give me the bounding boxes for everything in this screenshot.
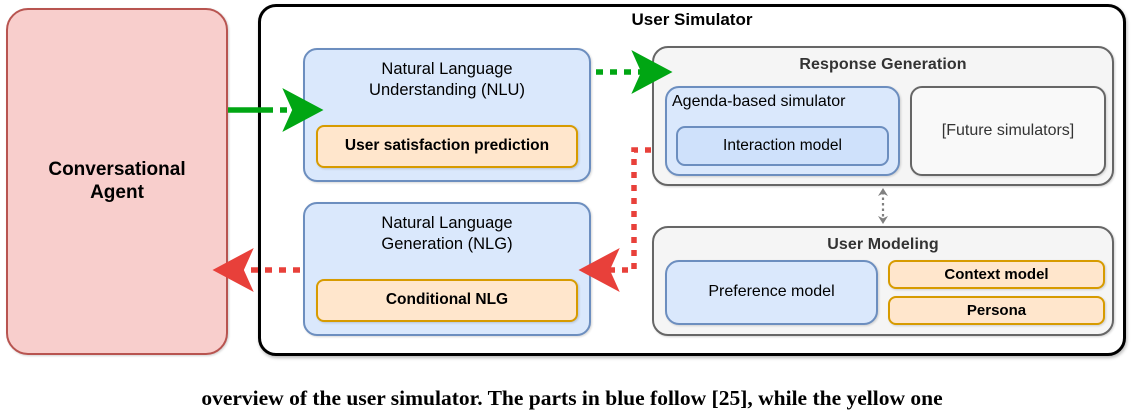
figure-caption: overview of the user simulator. The part… bbox=[0, 386, 1144, 411]
user-satisfaction-prediction-label: User satisfaction prediction bbox=[345, 137, 549, 155]
context-model-label: Context model bbox=[944, 266, 1048, 284]
future-simulators-label: [Future simulators] bbox=[942, 122, 1074, 141]
agenda-based-simulator-box: Agenda-based simulator Interaction model bbox=[665, 86, 900, 176]
future-simulators-box: [Future simulators] bbox=[910, 86, 1106, 176]
conversational-agent-label: ConversationalAgent bbox=[48, 159, 185, 204]
preference-model-box: Preference model bbox=[665, 260, 878, 325]
interaction-model-label: Interaction model bbox=[723, 137, 842, 155]
agenda-based-simulator-label: Agenda-based simulator bbox=[667, 93, 898, 112]
conditional-nlg-box: Conditional NLG bbox=[316, 279, 578, 322]
nlu-title: Natural LanguageUnderstanding (NLU) bbox=[305, 59, 589, 101]
user-modeling-group: User Modeling Preference model Context m… bbox=[652, 226, 1114, 336]
preference-model-label: Preference model bbox=[708, 283, 834, 302]
user-modeling-title: User Modeling bbox=[654, 228, 1112, 255]
context-model-box: Context model bbox=[888, 260, 1105, 289]
persona-label: Persona bbox=[967, 302, 1026, 320]
response-generation-group: Response Generation Agenda-based simulat… bbox=[652, 46, 1114, 186]
conditional-nlg-label: Conditional NLG bbox=[386, 291, 508, 309]
nlg-box: Natural LanguageGeneration (NLG) Conditi… bbox=[303, 202, 591, 336]
nlg-title: Natural LanguageGeneration (NLG) bbox=[305, 213, 589, 255]
nlu-box: Natural LanguageUnderstanding (NLU) User… bbox=[303, 48, 591, 182]
interaction-model-box: Interaction model bbox=[676, 126, 889, 166]
conversational-agent-box: ConversationalAgent bbox=[6, 8, 228, 355]
user-simulator-title: User Simulator bbox=[258, 10, 1126, 30]
diagram-canvas: ConversationalAgent User Simulator Natur… bbox=[0, 0, 1144, 415]
response-generation-title: Response Generation bbox=[654, 48, 1112, 75]
user-satisfaction-prediction-box: User satisfaction prediction bbox=[316, 125, 578, 168]
persona-box: Persona bbox=[888, 296, 1105, 325]
